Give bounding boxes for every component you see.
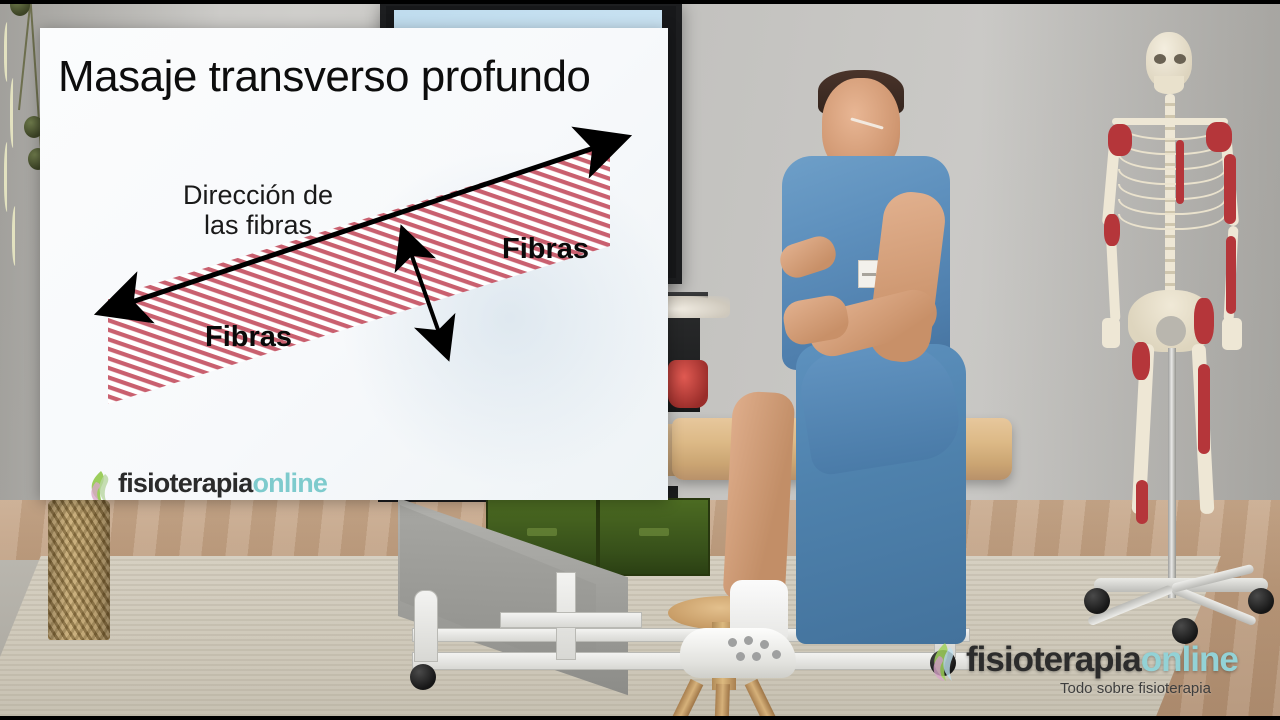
slide-title: Masaje transverso profundo (58, 52, 590, 102)
clog-hole (728, 638, 737, 647)
skeleton-model (1088, 18, 1278, 658)
skeleton-muscle-marking (1108, 124, 1132, 156)
leaf-icon (88, 470, 114, 500)
skeleton-muscle-marking (1132, 342, 1150, 380)
skeleton-jaw (1154, 76, 1184, 94)
skeleton-muscle-marking (1176, 140, 1184, 204)
watermark-name-dark: fisioterapia (966, 640, 1141, 679)
fiber-direction-label: Dirección de las fibras (148, 180, 368, 240)
corner-brand-watermark: fisioterapiaonline Todo sobre fisioterap… (930, 640, 1276, 706)
skeleton-stand-pole (1168, 348, 1176, 598)
slide-logo-name-teal: online (252, 468, 327, 498)
skeleton-muscle-marking (1198, 364, 1210, 454)
table-caster (410, 664, 436, 690)
stand-caster (1084, 588, 1110, 614)
clog-hole (772, 650, 781, 659)
watermark-text: fisioterapiaonline (966, 640, 1238, 680)
white-clog-shoe (680, 628, 796, 678)
clog-hole (736, 652, 745, 661)
therapist-figure (700, 60, 1020, 680)
slide-logo-text: fisioterapiaonline (118, 468, 327, 499)
video-frame: online bre fisioterapia 17:34 (0, 0, 1280, 720)
skeleton-muscle-marking (1206, 122, 1232, 152)
skeleton-muscle-marking (1104, 214, 1120, 246)
skeleton-hand-left (1102, 318, 1120, 348)
leaf-icon (930, 642, 960, 682)
transverse-massage-arrow (408, 245, 442, 341)
clog-hole (752, 652, 761, 661)
skeleton-hand-right (1222, 318, 1242, 350)
skeleton-muscle-marking (1194, 298, 1214, 344)
skeleton-muscle-marking (1136, 480, 1148, 524)
fiber-direction-line1: Dirección de (183, 180, 333, 210)
box-handle (527, 528, 557, 536)
clog-hole (744, 636, 753, 645)
fibras-label-lower: Fibras (205, 321, 292, 354)
therapist-lower-leg (723, 391, 796, 602)
letterbox-bottom (0, 716, 1280, 720)
fiber-direction-line2: las fibras (204, 210, 312, 240)
presentation-slide: Masaje transverso profundo (40, 28, 668, 500)
stand-caster (1248, 588, 1274, 614)
wicker-basket (48, 500, 110, 640)
skeleton-muscle-marking (1226, 236, 1236, 314)
slide-logo-name-dark: fisioterapia (118, 468, 252, 498)
watermark-name-teal: online (1141, 640, 1238, 679)
fibras-label-upper: Fibras (502, 233, 589, 266)
skeleton-muscle-marking (1224, 154, 1236, 224)
clog-hole (760, 640, 769, 649)
storage-box (598, 498, 710, 576)
slide-brand-logo: fisioterapiaonline Todo sobre fisioterap… (88, 468, 348, 500)
watermark-tagline: Todo sobre fisioterapia (1060, 680, 1211, 697)
slide-watermark-ghost (340, 148, 668, 488)
box-handle (639, 528, 669, 536)
letterbox-top (0, 0, 1280, 4)
